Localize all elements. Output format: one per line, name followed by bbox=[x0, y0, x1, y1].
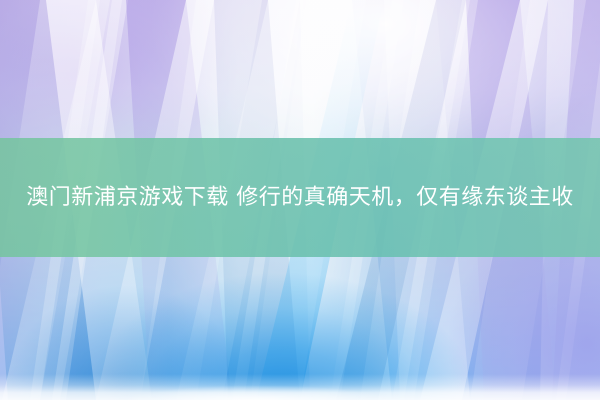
decorative-gradient-banner: 澳门新浦京游戏下载 修行的真确天机，仅有缘东谈主收 bbox=[0, 0, 600, 400]
caption-text: 澳门新浦京游戏下载 修行的真确天机，仅有缘东谈主收 bbox=[20, 179, 580, 216]
caption-band: 澳门新浦京游戏下载 修行的真确天机，仅有缘东谈主收 bbox=[0, 138, 600, 257]
bottom-glow-highlight bbox=[0, 366, 600, 400]
